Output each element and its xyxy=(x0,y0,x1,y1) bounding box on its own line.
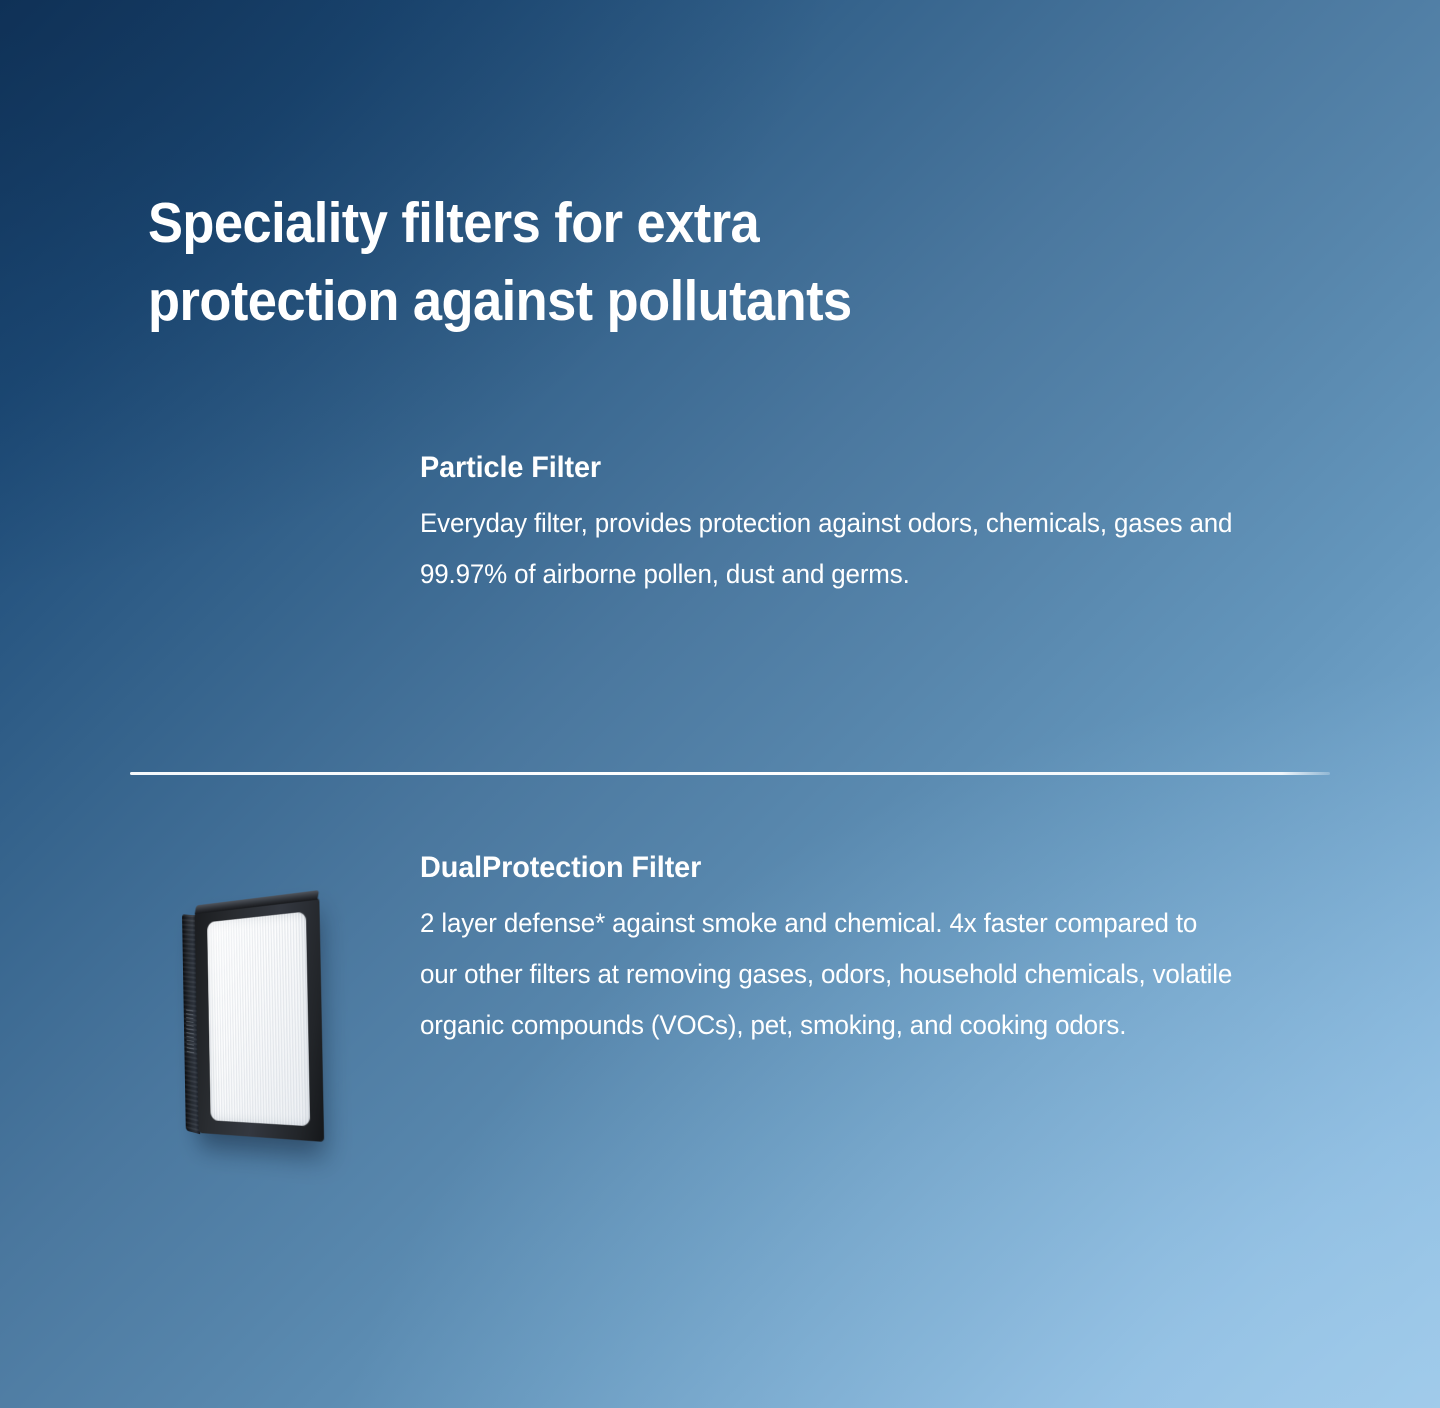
page-title: Speciality filters for extra protection … xyxy=(148,184,1068,340)
speciality-filters-page: Speciality filters for extra protection … xyxy=(0,0,1440,1408)
section-divider xyxy=(130,772,1330,775)
particle-filter-title: Particle Filter xyxy=(420,450,1236,486)
particle-filter-description: Everyday filter, provides protection aga… xyxy=(420,498,1236,600)
particle-filter-text-block: Particle Filter Everyday filter, provide… xyxy=(420,450,1270,600)
dualprotection-filter-text-block: DualProtection Filter 2 layer defense* a… xyxy=(420,850,1270,1051)
filter-item-dualprotection: DualProtection Filter 2 layer defense* a… xyxy=(0,850,1440,1190)
dualprotection-filter-description: 2 layer defense* against smoke and chemi… xyxy=(420,898,1236,1051)
filter-item-particle: Particle Filter Everyday filter, provide… xyxy=(0,450,1440,750)
dualprotection-filter-title: DualProtection Filter xyxy=(420,850,1236,886)
